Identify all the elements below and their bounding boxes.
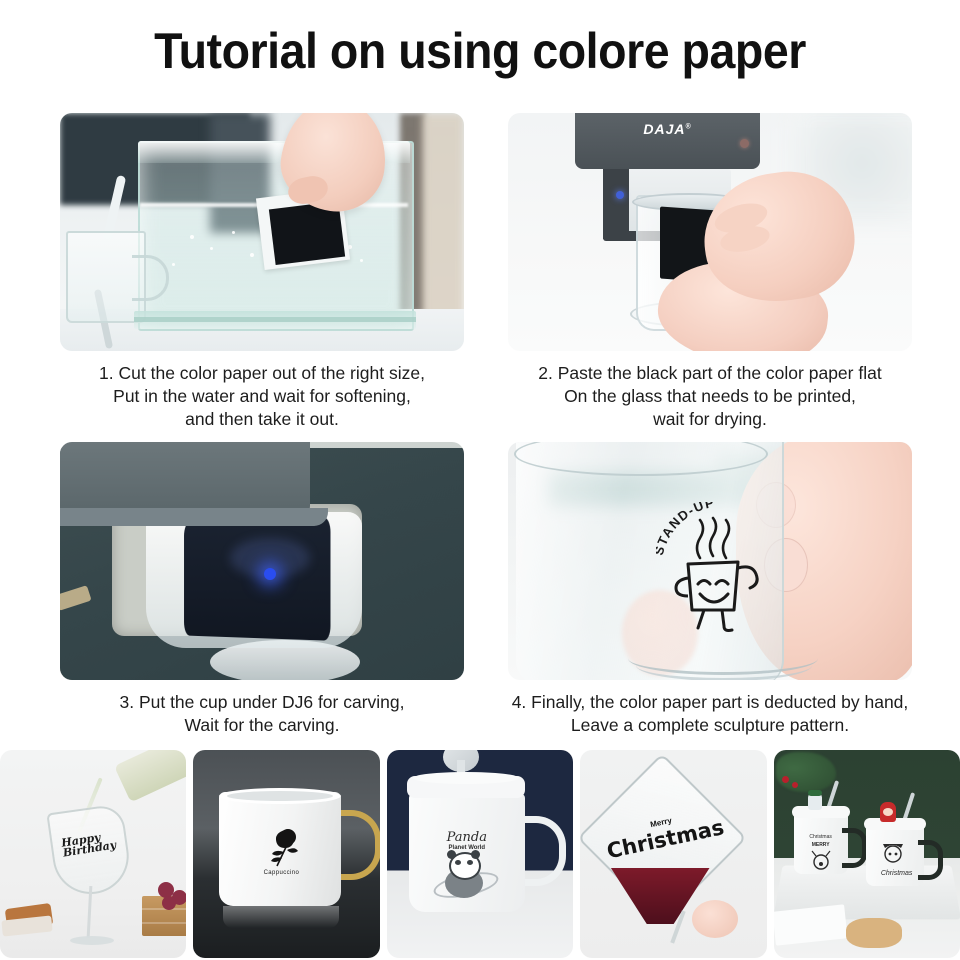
engraved-text: Cappuccino [249,870,313,876]
step-1-caption: 1. Cut the color paper out of the right … [60,362,464,431]
engraved-subtext: Planet World [425,845,509,851]
step-1: 1. Cut the color paper out of the right … [60,113,464,431]
laser-dot-icon [264,568,276,580]
product-merry-christmas-glass[interactable]: Merry Christmas [580,750,766,958]
power-led-icon [740,139,749,148]
finished-glass-photo: STAND-UP [508,442,912,680]
steps-row-top: 1. Cut the color paper out of the right … [60,113,912,431]
step-4-caption: 4. Finally, the color paper part is dedu… [508,691,912,737]
stand-up-engraving: STAND-UP [656,502,782,634]
black-color-paper [184,517,330,640]
product-gallery-strip: Happy Birthday Cappuccino [0,750,960,958]
snowman-icon [878,842,908,868]
step-3-caption: 3. Put the cup under DJ6 for carving, Wa… [60,691,464,737]
product-christmas-mug-pair[interactable]: Christmas MERRY Christmas [774,750,960,958]
svg-text:STAND-UP: STAND-UP [656,502,716,557]
steps-row-bottom: 3. Put the cup under DJ6 for carving, Wa… [60,442,912,737]
step-3: 3. Put the cup under DJ6 for carving, Wa… [60,442,464,737]
steps-grid: 1. Cut the color paper out of the right … [60,113,912,737]
reindeer-icon [806,850,836,872]
tutorial-infographic: Tutorial on using colore paper [0,0,960,960]
water-tank-photo [60,113,464,351]
paste-paper-photo: DAJA® [508,113,912,351]
daja-logo: DAJA® [575,121,760,137]
laser-carving-photo [60,442,464,680]
rose-icon [261,826,305,870]
engraved-text: Panda [425,830,509,845]
step-2-caption: 2. Paste the black part of the color pap… [508,362,912,431]
product-panda-mug[interactable]: Panda Planet World [387,750,573,958]
product-birthday-wine-glass[interactable]: Happy Birthday [0,750,186,958]
engraved-text: STAND-UP [656,502,716,557]
page-title: Tutorial on using colore paper [34,22,927,80]
step-4: STAND-UP [508,442,912,737]
product-cappuccino-mug[interactable]: Cappuccino [193,750,379,958]
step-2: DAJA® 2. Paste the black part of the col… [508,113,912,431]
